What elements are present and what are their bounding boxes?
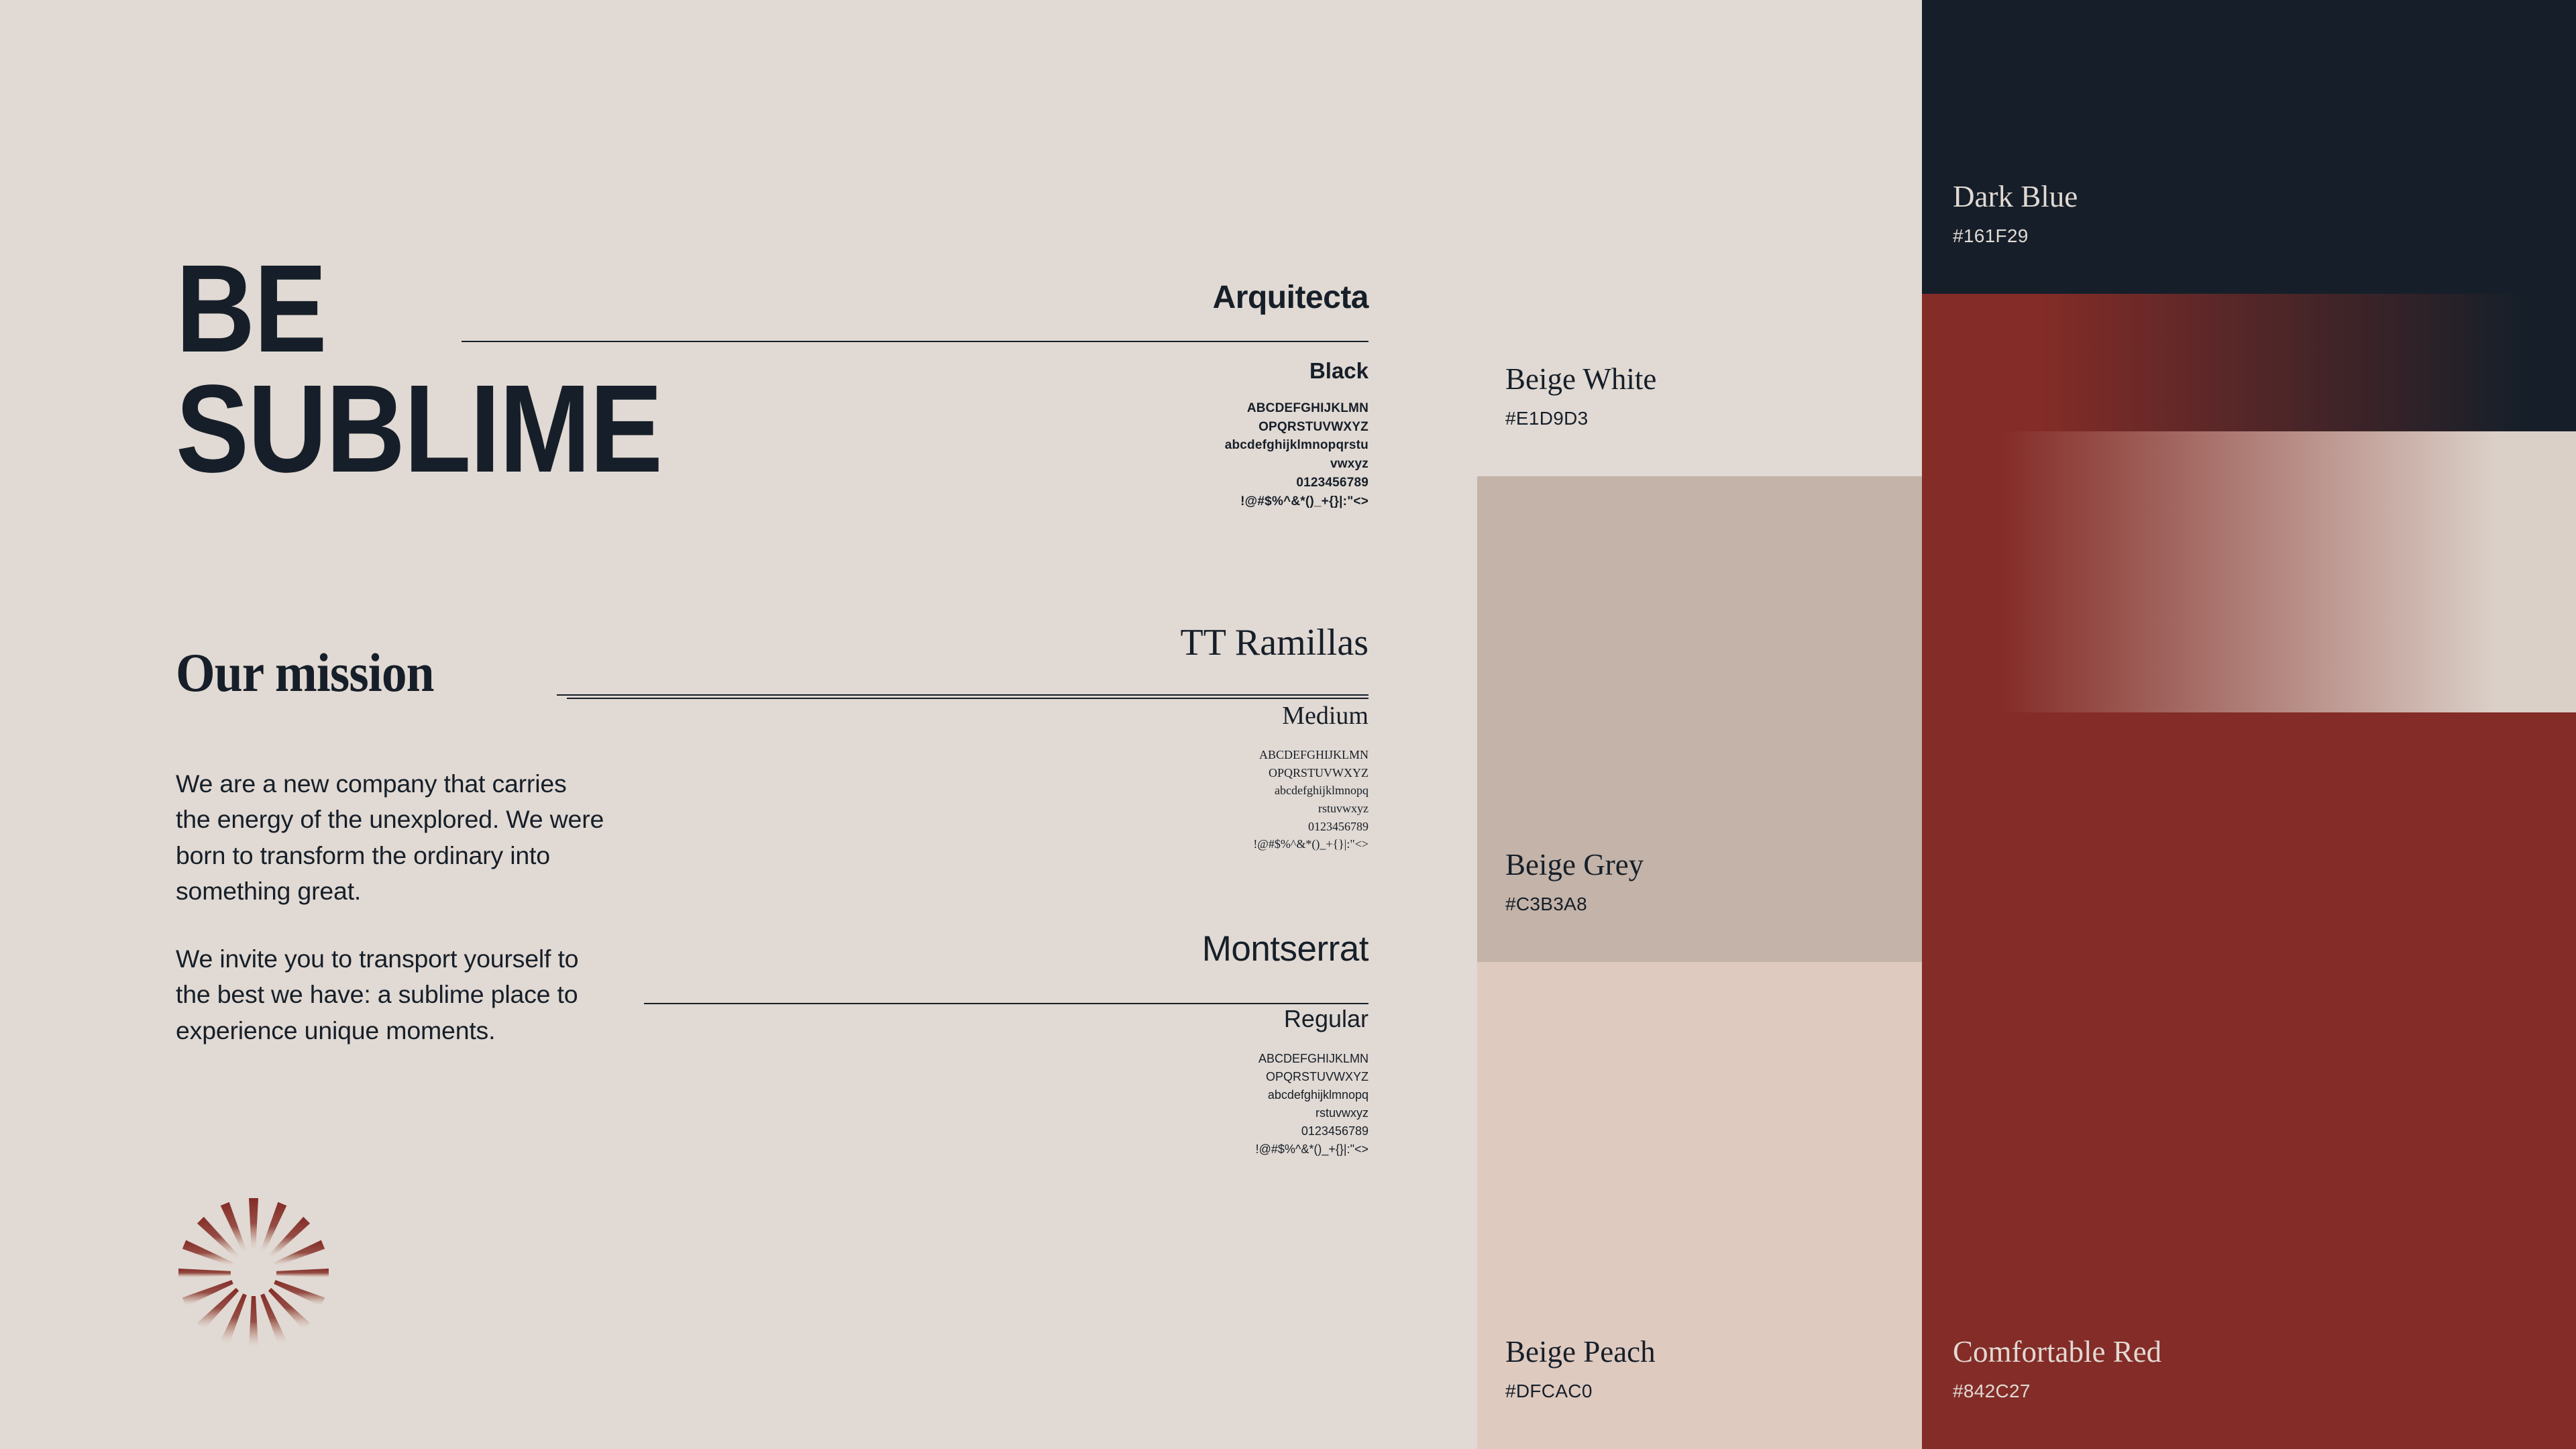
typeface-weight: Medium bbox=[1181, 703, 1369, 729]
swatch-hex: #842C27 bbox=[1953, 1382, 2031, 1401]
swatch-hex: #161F29 bbox=[1953, 227, 2029, 246]
mission-paragraph-2: We invite you to transport yourself to t… bbox=[176, 941, 605, 1049]
divider-montserrat bbox=[644, 1003, 1368, 1004]
swatch-name: Beige White bbox=[1505, 364, 1656, 394]
typeface-glyph-set: ABCDEFGHIJKLMN OPQRSTUVWXYZ abcdefghijkl… bbox=[1181, 746, 1369, 853]
typeface-glyph-set: ABCDEFGHIJKLMN OPQRSTUVWXYZ abcdefghijkl… bbox=[1213, 399, 1368, 511]
type-specimen-montserrat: Montserrat Regular ABCDEFGHIJKLMN OPQRST… bbox=[1202, 931, 1368, 1159]
mission-paragraph-1: We are a new company that carries the en… bbox=[176, 766, 605, 909]
brand-style-guide-board: BE SUBLIME Arquitecta Black ABCDEFGHIJKL… bbox=[0, 0, 2576, 1449]
mission-body: We are a new company that carries the en… bbox=[176, 766, 605, 1049]
type-specimen-arquitecta: Arquitecta Black ABCDEFGHIJKLMN OPQRSTUV… bbox=[1213, 282, 1368, 511]
mission-heading: Our mission bbox=[176, 645, 434, 700]
sunburst-logo-icon bbox=[173, 1193, 334, 1354]
swatch-comfortable-red[interactable]: Comfortable Red #842C27 bbox=[1922, 712, 2576, 1449]
typeface-weight: Regular bbox=[1202, 1007, 1368, 1031]
swatch-hex: #DFCAC0 bbox=[1505, 1382, 1593, 1401]
swatch-name: Comfortable Red bbox=[1953, 1337, 2161, 1367]
swatch-hex: #E1D9D3 bbox=[1505, 409, 1589, 428]
palette-column-neutrals: Beige White #E1D9D3 Beige Grey #C3B3A8 B… bbox=[1477, 0, 1922, 1449]
palette-column-accents: Dark Blue #161F29 Comfortable Red #842C2… bbox=[1922, 0, 2576, 1449]
swatch-name: Beige Grey bbox=[1505, 850, 1644, 880]
typeface-name: Arquitecta bbox=[1213, 282, 1368, 314]
swatch-beige-white[interactable]: Beige White #E1D9D3 bbox=[1477, 0, 1922, 476]
swatch-beige-peach[interactable]: Beige Peach #DFCAC0 bbox=[1477, 962, 1922, 1449]
swatch-name: Beige Peach bbox=[1505, 1337, 1656, 1367]
swatch-hex: #C3B3A8 bbox=[1505, 895, 1587, 914]
divider-arquitecta bbox=[462, 341, 1368, 342]
typeface-glyph-set: ABCDEFGHIJKLMN OPQRSTUVWXYZ abcdefghijkl… bbox=[1202, 1050, 1368, 1159]
typeface-name: TT Ramillas bbox=[1181, 624, 1369, 661]
page-title: BE SUBLIME bbox=[176, 250, 825, 489]
typeface-name: Montserrat bbox=[1202, 931, 1368, 967]
gradient-red-to-beige bbox=[1922, 431, 2576, 712]
gradient-red-to-navy bbox=[1922, 294, 2576, 431]
divider-ramillas bbox=[557, 694, 1368, 696]
type-specimen-ramillas: TT Ramillas Medium ABCDEFGHIJKLMN OPQRST… bbox=[1181, 624, 1369, 853]
left-panel: BE SUBLIME Arquitecta Black ABCDEFGHIJKL… bbox=[0, 0, 1477, 1449]
swatch-name: Dark Blue bbox=[1953, 182, 2078, 212]
swatch-dark-blue[interactable]: Dark Blue #161F29 bbox=[1922, 0, 2576, 294]
swatch-beige-grey[interactable]: Beige Grey #C3B3A8 bbox=[1477, 476, 1922, 962]
typeface-weight: Black bbox=[1213, 360, 1368, 382]
